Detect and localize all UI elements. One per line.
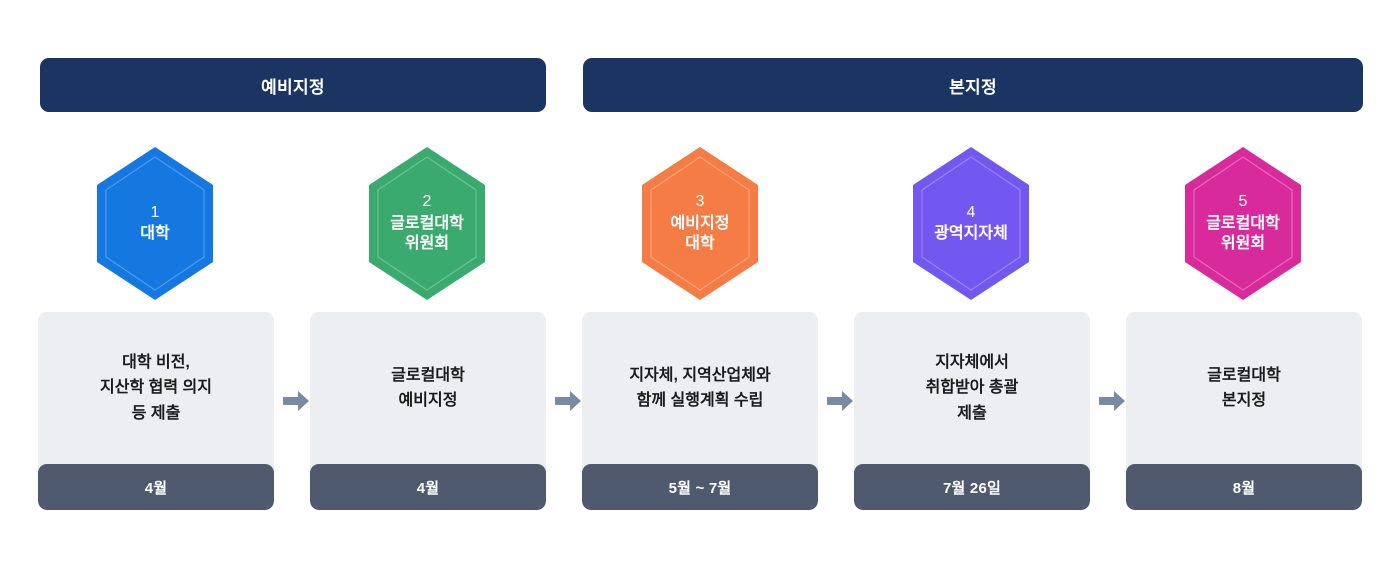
hexagon-step-1: 1 대학 xyxy=(96,146,214,301)
step-card-2-period: 4월 xyxy=(310,464,546,510)
phase-banner-main: 본지정 xyxy=(583,58,1363,112)
hexagon-step-3: 3 예비지정 대학 xyxy=(641,146,759,301)
phase-banner-main-label: 본지정 xyxy=(949,73,997,98)
arrow-right-icon-3 xyxy=(827,390,853,412)
step-card-2-body: 글로컬대학 예비지정 xyxy=(310,312,546,464)
step-card-5-period: 8월 xyxy=(1126,464,1362,510)
hexagon-step-5: 5 글로컬대학 위원회 xyxy=(1184,146,1302,301)
hexagon-step-2-shape xyxy=(369,147,485,300)
process-flow-diagram: 예비지정 본지정 1 대학 2 글로컬대학 위원회 xyxy=(0,0,1400,569)
phase-banner-preliminary: 예비지정 xyxy=(40,58,546,112)
step-card-3-period: 5월 ~ 7월 xyxy=(582,464,818,510)
step-card-4-period: 7월 26일 xyxy=(854,464,1090,510)
step-card-4-body: 지자체에서 취합받아 총괄 제출 xyxy=(854,312,1090,464)
hexagon-step-4: 4 광역지자체 xyxy=(912,146,1030,301)
step-card-row: 대학 비전, 지산학 협력 의지 등 제출 4월 글로컬대학 예비지정 4월 지… xyxy=(0,312,1400,510)
step-card-1-period: 4월 xyxy=(38,464,274,510)
phase-banner-preliminary-label: 예비지정 xyxy=(261,73,325,98)
arrow-right-icon-2 xyxy=(555,390,581,412)
actor-hexagon-row: 1 대학 2 글로컬대학 위원회 3 예비지정 대학 xyxy=(0,146,1400,301)
step-card-3: 지자체, 지역산업체와 함께 실행계획 수립 5월 ~ 7월 xyxy=(582,312,818,510)
hexagon-step-1-shape xyxy=(97,147,213,300)
step-card-5: 글로컬대학 본지정 8월 xyxy=(1126,312,1362,510)
hexagon-step-5-shape xyxy=(1185,147,1301,300)
step-card-1-body: 대학 비전, 지산학 협력 의지 등 제출 xyxy=(38,312,274,464)
step-card-1: 대학 비전, 지산학 협력 의지 등 제출 4월 xyxy=(38,312,274,510)
hexagon-step-2: 2 글로컬대학 위원회 xyxy=(368,146,486,301)
arrow-right-icon-1 xyxy=(283,390,309,412)
step-card-3-body: 지자체, 지역산업체와 함께 실행계획 수립 xyxy=(582,312,818,464)
arrow-right-icon-4 xyxy=(1099,390,1125,412)
step-card-4: 지자체에서 취합받아 총괄 제출 7월 26일 xyxy=(854,312,1090,510)
step-card-5-body: 글로컬대학 본지정 xyxy=(1126,312,1362,464)
phase-banner-row: 예비지정 본지정 xyxy=(0,58,1400,112)
hexagon-step-4-shape xyxy=(913,147,1029,300)
step-card-2: 글로컬대학 예비지정 4월 xyxy=(310,312,546,510)
hexagon-step-3-shape xyxy=(642,147,758,300)
